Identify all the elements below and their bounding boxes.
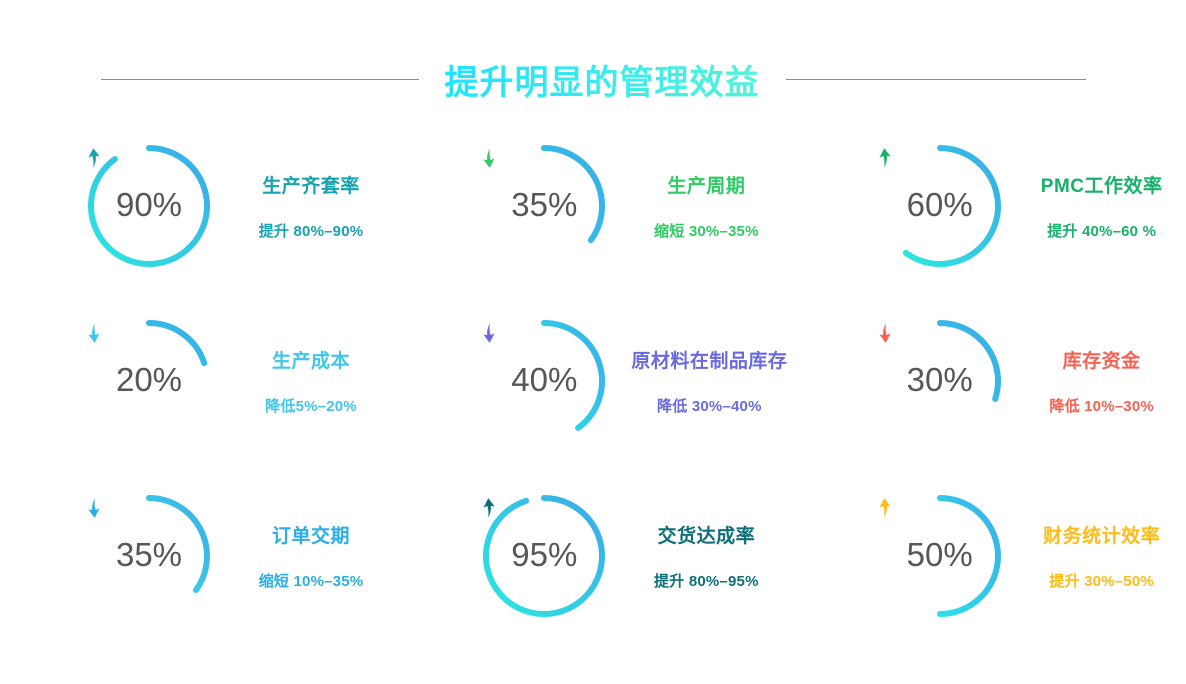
gauge-delivery-achievement-rate: 95%	[479, 491, 609, 621]
gauge-center-inventory-capital: 30%	[875, 316, 1005, 446]
metric-title: 订单交期	[272, 521, 350, 548]
metrics-grid: 90% 生产齐套率 提升 80%–90% 35%	[0, 118, 1186, 658]
metric-card-production-cost[interactable]: 20% 生产成本 降低5%–20%	[0, 293, 395, 468]
metric-subtitle: 提升 40%–60 %	[1047, 220, 1156, 241]
gauge-production-kitting-rate: 90%	[84, 141, 214, 271]
metric-text-delivery-achievement-rate: 交货达成率 提升 80%–95%	[631, 521, 781, 591]
arrow-down-icon	[84, 321, 104, 345]
metric-card-production-cycle[interactable]: 35% 生产周期 缩短 30%–35%	[395, 118, 790, 293]
gauge-value: 95%	[511, 538, 577, 571]
metric-title: 生产成本	[272, 346, 350, 373]
metric-card-pmc-work-efficiency[interactable]: 60% PMC工作效率 提升 40%–60 %	[791, 118, 1186, 293]
metric-card-inventory-capital[interactable]: 30% 库存资金 降低 10%–30%	[791, 293, 1186, 468]
metric-title: PMC工作效率	[1041, 171, 1163, 198]
metric-card-financial-statistics-efficiency[interactable]: 50% 财务统计效率 提升 30%–50%	[791, 468, 1186, 643]
metric-text-pmc-work-efficiency: PMC工作效率 提升 40%–60 %	[1027, 171, 1177, 241]
arrow-up-icon	[875, 496, 895, 520]
gauge-pmc-work-efficiency: 60%	[875, 141, 1005, 271]
gauge-value: 30%	[907, 363, 973, 396]
gauge-raw-material-wip-inventory: 40%	[479, 316, 609, 446]
metric-title: 交货达成率	[658, 521, 756, 548]
gauge-value: 90%	[116, 188, 182, 221]
metric-subtitle: 降低 10%–30%	[1049, 395, 1154, 416]
metric-text-production-cost: 生产成本 降低5%–20%	[236, 346, 386, 416]
metric-subtitle: 降低5%–20%	[265, 395, 357, 416]
metric-subtitle: 提升 80%–95%	[654, 570, 759, 591]
gauge-production-cost: 20%	[84, 316, 214, 446]
gauge-financial-statistics-efficiency: 50%	[875, 491, 1005, 621]
metric-subtitle: 降低 30%–40%	[657, 395, 762, 416]
metric-text-financial-statistics-efficiency: 财务统计效率 提升 30%–50%	[1027, 521, 1177, 591]
gauge-center-pmc-work-efficiency: 60%	[875, 141, 1005, 271]
metric-text-inventory-capital: 库存资金 降低 10%–30%	[1027, 346, 1177, 416]
metric-title: 原材料在制品库存	[631, 346, 787, 373]
gauge-center-production-cost: 20%	[84, 316, 214, 446]
metric-subtitle: 提升 30%–50%	[1049, 570, 1154, 591]
metric-subtitle: 缩短 10%–35%	[259, 570, 364, 591]
metric-text-production-cycle: 生产周期 缩短 30%–35%	[631, 171, 781, 241]
title-rule-right	[786, 79, 1086, 80]
gauge-value: 60%	[907, 188, 973, 221]
metric-title: 生产周期	[667, 171, 745, 198]
metric-title: 财务统计效率	[1043, 521, 1160, 548]
metric-subtitle: 缩短 30%–35%	[654, 220, 759, 241]
gauge-center-raw-material-wip-inventory: 40%	[479, 316, 609, 446]
arrow-up-icon	[84, 146, 104, 170]
metric-text-production-kitting-rate: 生产齐套率 提升 80%–90%	[236, 171, 386, 241]
gauge-inventory-capital: 30%	[875, 316, 1005, 446]
gauge-center-delivery-achievement-rate: 95%	[479, 491, 609, 621]
gauge-value: 35%	[116, 538, 182, 571]
arrow-up-icon	[479, 496, 499, 520]
metric-title: 库存资金	[1063, 346, 1141, 373]
gauge-center-production-cycle: 35%	[479, 141, 609, 271]
metric-title: 生产齐套率	[262, 171, 360, 198]
arrow-down-icon	[479, 146, 499, 170]
arrow-up-icon	[875, 146, 895, 170]
metric-text-order-delivery-period: 订单交期 缩短 10%–35%	[236, 521, 386, 591]
metric-card-delivery-achievement-rate[interactable]: 95% 交货达成率 提升 80%–95%	[395, 468, 790, 643]
gauge-value: 20%	[116, 363, 182, 396]
page-header: 提升明显的管理效益	[0, 50, 1186, 108]
metric-card-raw-material-wip-inventory[interactable]: 40% 原材料在制品库存 降低 30%–40%	[395, 293, 790, 468]
metric-card-order-delivery-period[interactable]: 35% 订单交期 缩短 10%–35%	[0, 468, 395, 643]
metric-card-production-kitting-rate[interactable]: 90% 生产齐套率 提升 80%–90%	[0, 118, 395, 293]
arrow-down-icon	[875, 321, 895, 345]
arrow-down-icon	[479, 321, 499, 345]
page-title: 提升明显的管理效益	[445, 55, 760, 104]
gauge-center-financial-statistics-efficiency: 50%	[875, 491, 1005, 621]
arrow-down-icon	[84, 496, 104, 520]
title-rule-left	[101, 79, 419, 80]
gauge-value: 40%	[511, 363, 577, 396]
gauge-order-delivery-period: 35%	[84, 491, 214, 621]
metric-text-raw-material-wip-inventory: 原材料在制品库存 降低 30%–40%	[631, 346, 787, 416]
gauge-value: 35%	[511, 188, 577, 221]
gauge-center-production-kitting-rate: 90%	[84, 141, 214, 271]
gauge-center-order-delivery-period: 35%	[84, 491, 214, 621]
gauge-value: 50%	[907, 538, 973, 571]
metric-subtitle: 提升 80%–90%	[259, 220, 364, 241]
gauge-production-cycle: 35%	[479, 141, 609, 271]
